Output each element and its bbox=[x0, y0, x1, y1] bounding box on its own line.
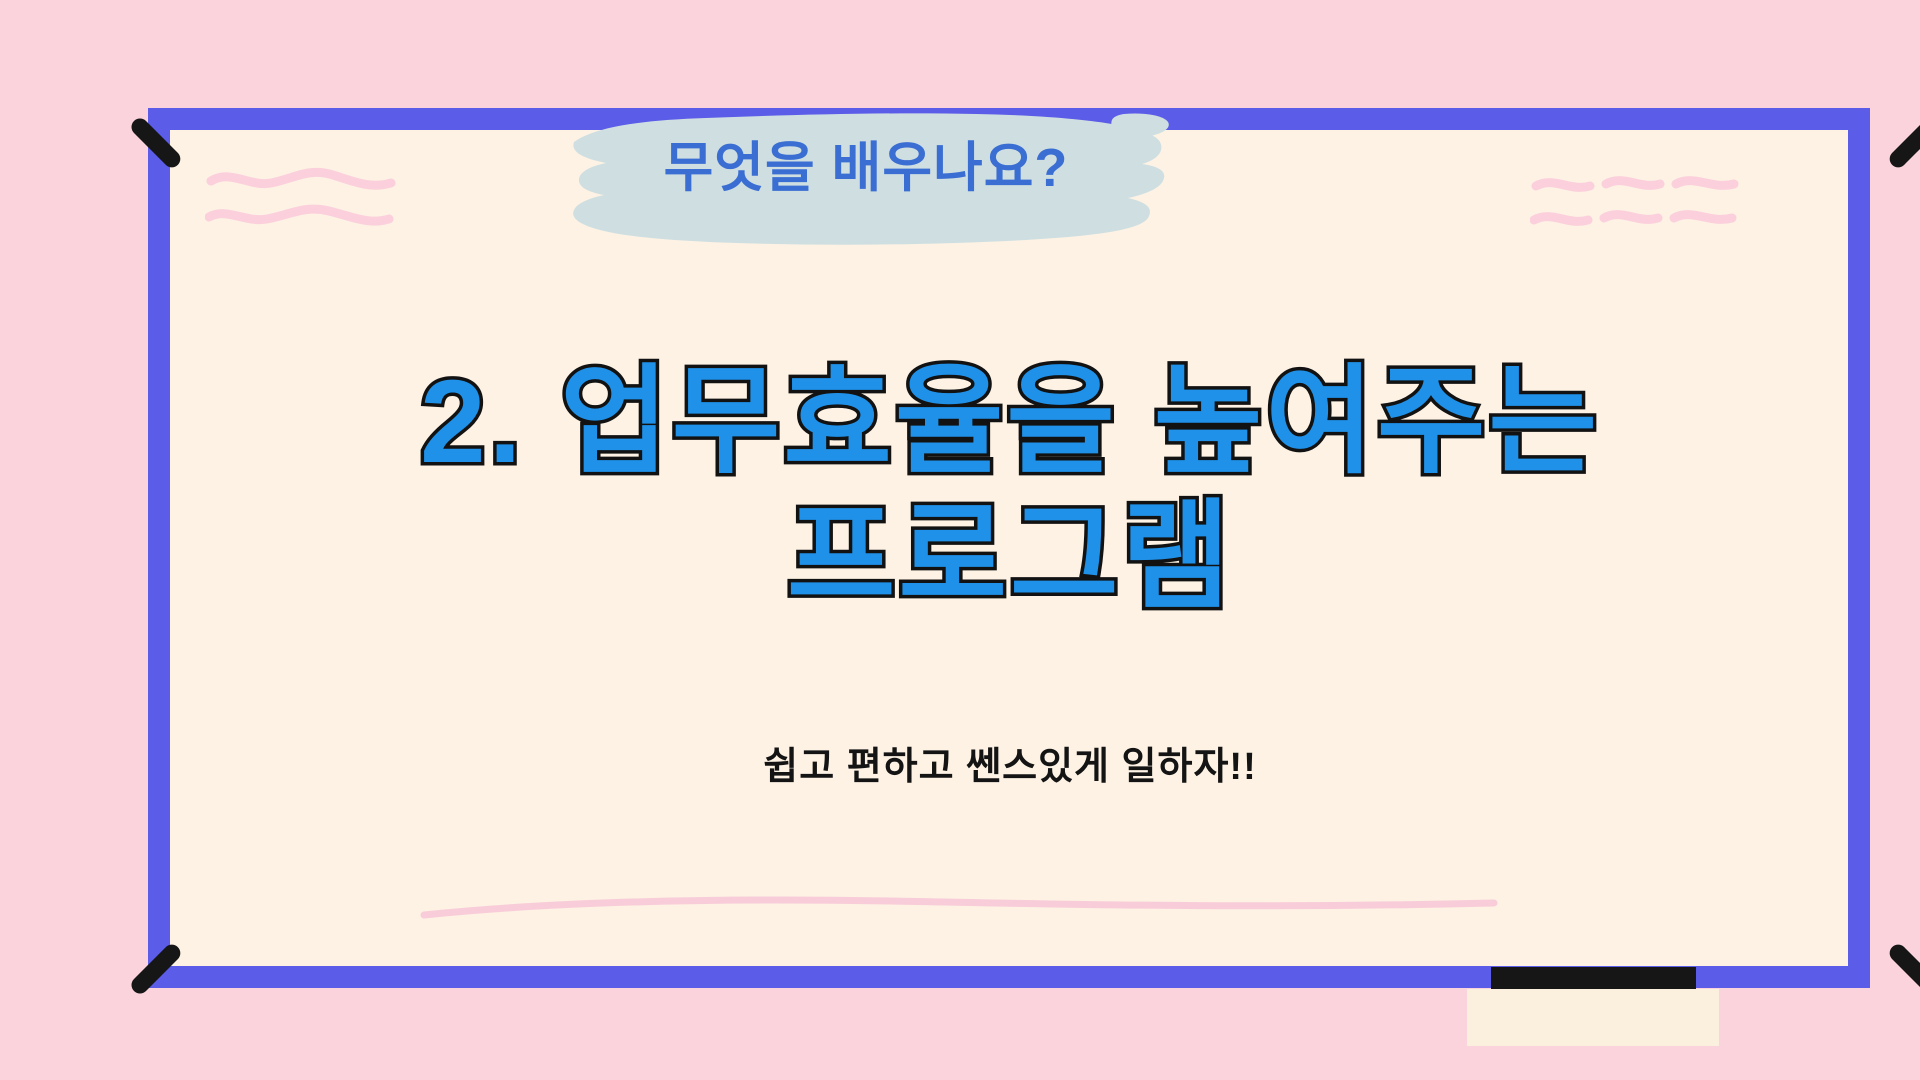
page-title-line-1: 2. 업무효율을 높여주는 bbox=[180, 355, 1840, 490]
bottom-accent-bar bbox=[1491, 967, 1696, 989]
page-title-line-2: 프로그램 bbox=[180, 490, 1840, 625]
corner-mark-top-right bbox=[1886, 115, 1920, 171]
page-title: 2. 업무효율을 높여주는 프로그램 bbox=[180, 355, 1840, 624]
header-title: 무엇을 배우나요? bbox=[556, 140, 1176, 197]
corner-mark-bottom-right bbox=[1886, 941, 1920, 997]
slide-canvas: 무엇을 배우나요? 2. 업무효율을 높여주는 프로그램 쉽고 편하고 쎈스있게… bbox=[0, 0, 1920, 1080]
bottom-accent-box bbox=[1467, 989, 1719, 1046]
page-subtitle: 쉽고 편하고 쎈스있게 일하자!! bbox=[180, 735, 1840, 790]
